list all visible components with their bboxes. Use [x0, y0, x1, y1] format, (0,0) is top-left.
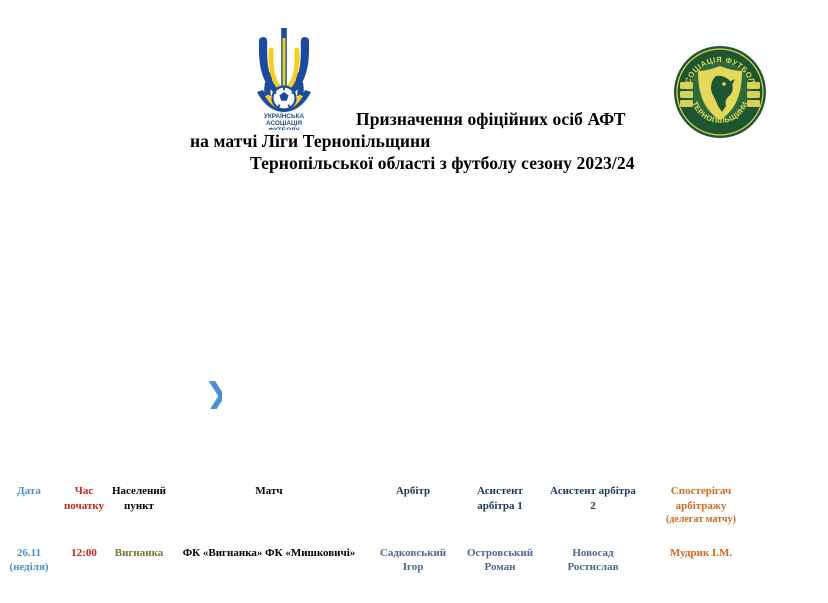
- cell-spacer: [760, 528, 828, 575]
- cell-place: Вигнанка: [110, 528, 168, 575]
- column-header-place: Населений пункт: [110, 478, 168, 528]
- column-header-spacer: [760, 478, 828, 528]
- table-header-row: Дата Час початку Населений пункт Матч Ар…: [0, 478, 828, 528]
- appointments-table: Дата Час початку Населений пункт Матч Ар…: [0, 478, 828, 575]
- column-header-observer: Спостерігач арбітражу (делегат матчу): [642, 478, 760, 528]
- cell-match: ФК «Вигнанка» ФК «Мишковичі»: [168, 528, 370, 575]
- cell-assistant-1: Островський Роман: [456, 528, 544, 575]
- title-line-3: Тернопільської області з футболу сезону …: [0, 152, 828, 174]
- cell-assistant-2: Новосад Ростислав: [544, 528, 642, 575]
- table-row: 26.11 (неділя) 12:00 Вигнанка ФК «Вигнан…: [0, 528, 828, 575]
- cell-referee: Садковський Ігор: [370, 528, 456, 575]
- title-line-2: на матчі Ліги Тернопільщини: [0, 130, 828, 152]
- column-header-assistant-2: Асистент арбітра 2: [544, 478, 642, 528]
- column-header-time: Час початку: [58, 478, 110, 528]
- column-header-assistant-1: Асистент арбітра 1: [456, 478, 544, 528]
- document-page: УКРАЇНСЬКА АСОЦІАЦІЯ ФУТБОЛУ: [0, 0, 828, 603]
- cell-time: 12:00: [58, 528, 110, 575]
- cell-date: 26.11 (неділя): [0, 528, 58, 575]
- document-title: Призначення офіційних осіб АФТ на матчі …: [0, 108, 828, 174]
- column-header-match: Матч: [168, 478, 370, 528]
- column-header-date: Дата: [0, 478, 58, 528]
- cell-observer: Мудрик І.М.: [642, 528, 760, 575]
- title-line-1: Призначення офіційних осіб АФТ: [0, 108, 828, 130]
- stray-chevron-icon: ❯: [204, 381, 222, 409]
- column-header-referee: Арбітр: [370, 478, 456, 528]
